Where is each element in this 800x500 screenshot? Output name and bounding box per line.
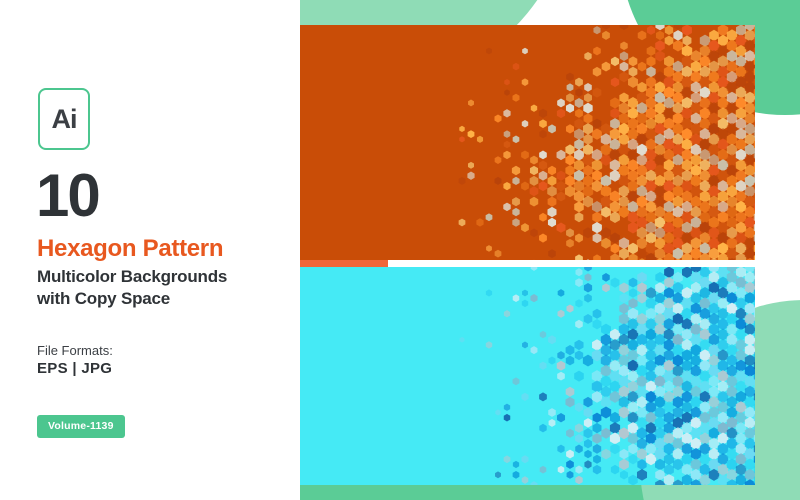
cyan-hexagon-preview (300, 267, 755, 485)
page-subtitle: Multicolor Backgroundswith Copy Space (37, 266, 287, 311)
item-count: 10 (36, 166, 99, 226)
orange-accent-strip (300, 260, 388, 267)
adobe-illustrator-icon: Ai (38, 88, 90, 150)
poster-canvas: Ai 10 Hexagon Pattern Multicolor Backgro… (0, 0, 800, 500)
file-formats-value: EPS | JPG (37, 360, 112, 377)
file-formats-label: File Formats: (37, 343, 113, 358)
orange-hexagon-preview (300, 25, 755, 260)
adobe-illustrator-label: Ai (52, 106, 77, 133)
info-panel: Ai 10 Hexagon Pattern Multicolor Backgro… (0, 0, 300, 500)
hexagon-pattern-orange (300, 25, 755, 260)
hexagon-pattern-cyan (300, 267, 755, 485)
volume-badge: Volume-1139 (37, 415, 125, 438)
page-title: Hexagon Pattern (37, 236, 223, 263)
